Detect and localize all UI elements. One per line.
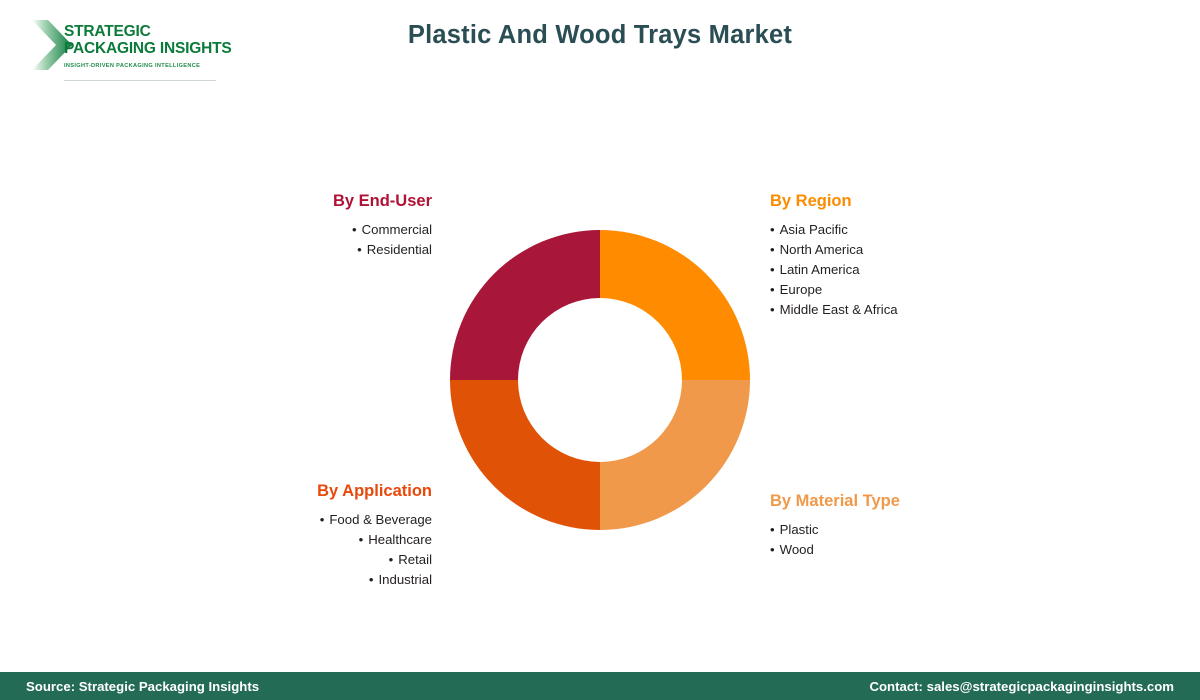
list-item-label: North America [780, 242, 864, 257]
list-item-label: Plastic [780, 522, 819, 537]
segment-title-application: By Application [160, 482, 432, 501]
bullet-icon: • [389, 550, 394, 570]
footer-bar: Source: Strategic Packaging Insights Con… [0, 672, 1200, 700]
bullet-icon: • [770, 220, 775, 240]
donut-slice-application [450, 380, 600, 530]
list-item-label: Latin America [780, 262, 860, 277]
bullet-icon: • [320, 510, 325, 530]
bullet-icon: • [770, 280, 775, 300]
list-item-label: Industrial [378, 572, 432, 587]
list-item: •Europe [770, 280, 1070, 300]
list-item-label: Retail [398, 552, 432, 567]
list-item: •Industrial [160, 570, 432, 590]
infographic-page: STRATEGIC PACKAGING INSIGHTS INSIGHT-DRI… [0, 0, 1200, 700]
segment-material-type: By Material Type •Plastic •Wood [770, 492, 1070, 560]
list-item: •Middle East & Africa [770, 300, 1070, 320]
segment-list-application: •Food & Beverage •Healthcare •Retail •In… [160, 510, 432, 590]
segment-title-region: By Region [770, 192, 1070, 211]
donut-slice-end-user [450, 230, 600, 380]
list-item-label: Commercial [362, 222, 432, 237]
footer-contact: Contact: sales@strategicpackaginginsight… [869, 679, 1174, 694]
segment-application: By Application •Food & Beverage •Healthc… [160, 482, 432, 590]
logo-tagline: INSIGHT-DRIVEN PACKAGING INTELLIGENCE [64, 63, 232, 69]
bullet-icon: • [352, 220, 357, 240]
segment-end-user: By End-User •Commercial •Residential [180, 192, 432, 260]
footer-source: Source: Strategic Packaging Insights [26, 679, 259, 694]
list-item: •Plastic [770, 520, 1070, 540]
list-item: •Latin America [770, 260, 1070, 280]
segment-list-material-type: •Plastic •Wood [770, 520, 1070, 560]
segment-title-end-user: By End-User [180, 192, 432, 211]
list-item-label: Middle East & Africa [780, 302, 898, 317]
bullet-icon: • [770, 300, 775, 320]
list-item: •Retail [160, 550, 432, 570]
segment-region: By Region •Asia Pacific •North America •… [770, 192, 1070, 320]
list-item-label: Food & Beverage [329, 512, 432, 527]
bullet-icon: • [357, 240, 362, 260]
bullet-icon: • [359, 530, 364, 550]
bullet-icon: • [770, 520, 775, 540]
list-item: •Commercial [180, 220, 432, 240]
list-item-label: Healthcare [368, 532, 432, 547]
list-item: •Food & Beverage [160, 510, 432, 530]
list-item: •North America [770, 240, 1070, 260]
page-title: Plastic And Wood Trays Market [0, 21, 1200, 50]
donut-chart [450, 230, 750, 530]
donut-slice-material-type [600, 380, 750, 530]
list-item-label: Residential [367, 242, 432, 257]
bullet-icon: • [369, 570, 374, 590]
segment-list-region: •Asia Pacific •North America •Latin Amer… [770, 220, 1070, 320]
list-item-label: Europe [780, 282, 823, 297]
logo-divider [64, 80, 216, 81]
bullet-icon: • [770, 240, 775, 260]
list-item-label: Asia Pacific [780, 222, 848, 237]
segment-list-end-user: •Commercial •Residential [180, 220, 432, 260]
segment-title-material-type: By Material Type [770, 492, 1070, 511]
list-item: •Asia Pacific [770, 220, 1070, 240]
list-item: •Wood [770, 540, 1070, 560]
list-item: •Residential [180, 240, 432, 260]
donut-slice-region [600, 230, 750, 380]
bullet-icon: • [770, 540, 775, 560]
list-item-label: Wood [780, 542, 814, 557]
bullet-icon: • [770, 260, 775, 280]
list-item: •Healthcare [160, 530, 432, 550]
